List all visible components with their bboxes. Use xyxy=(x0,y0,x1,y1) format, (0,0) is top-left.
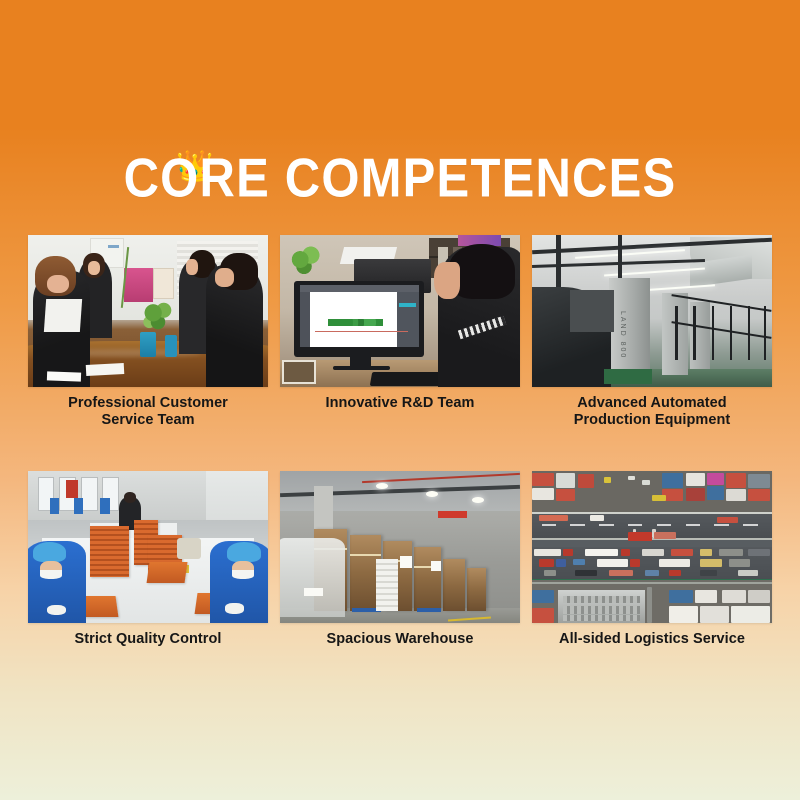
photo-all-sided-logistics-service xyxy=(532,471,772,623)
competence-card-all-sided-logistics-service[interactable]: All-sided Logistics Service xyxy=(532,471,772,648)
competence-grid: Professional Customer Service Team xyxy=(28,235,772,648)
photo-advanced-automated-production-equipment: LAND 800 xyxy=(532,235,772,387)
competence-card-professional-customer-service-team[interactable]: Professional Customer Service Team xyxy=(28,235,268,429)
page-title: CORE COMPETENCES xyxy=(124,145,677,212)
competence-card-spacious-warehouse[interactable]: Spacious Warehouse xyxy=(280,471,520,648)
photo-strict-quality-control xyxy=(28,471,268,623)
machine-label: LAND 800 xyxy=(619,311,626,359)
photo-innovative-rd-team xyxy=(280,235,520,387)
photo-professional-customer-service-team xyxy=(28,235,268,387)
photo-spacious-warehouse xyxy=(280,471,520,623)
competence-card-advanced-automated-production-equipment[interactable]: LAND 800 Advanced Automated Production E… xyxy=(532,235,772,429)
competence-card-innovative-rd-team[interactable]: Innovative R&D Team xyxy=(280,235,520,429)
caption-innovative-rd-team: Innovative R&D Team xyxy=(280,395,520,412)
caption-strict-quality-control: Strict Quality Control xyxy=(28,631,268,648)
competence-card-strict-quality-control[interactable]: Strict Quality Control xyxy=(28,471,268,648)
caption-spacious-warehouse: Spacious Warehouse xyxy=(280,631,520,648)
caption-all-sided-logistics-service: All-sided Logistics Service xyxy=(532,631,772,648)
caption-professional-customer-service-team: Professional Customer Service Team xyxy=(28,395,268,429)
poster-root: 👑 CORE COMPETENCES Professional Customer… xyxy=(0,0,800,800)
poster-header: 👑 CORE COMPETENCES xyxy=(0,152,800,218)
caption-advanced-automated-production-equipment: Advanced Automated Production Equipment xyxy=(532,395,772,429)
